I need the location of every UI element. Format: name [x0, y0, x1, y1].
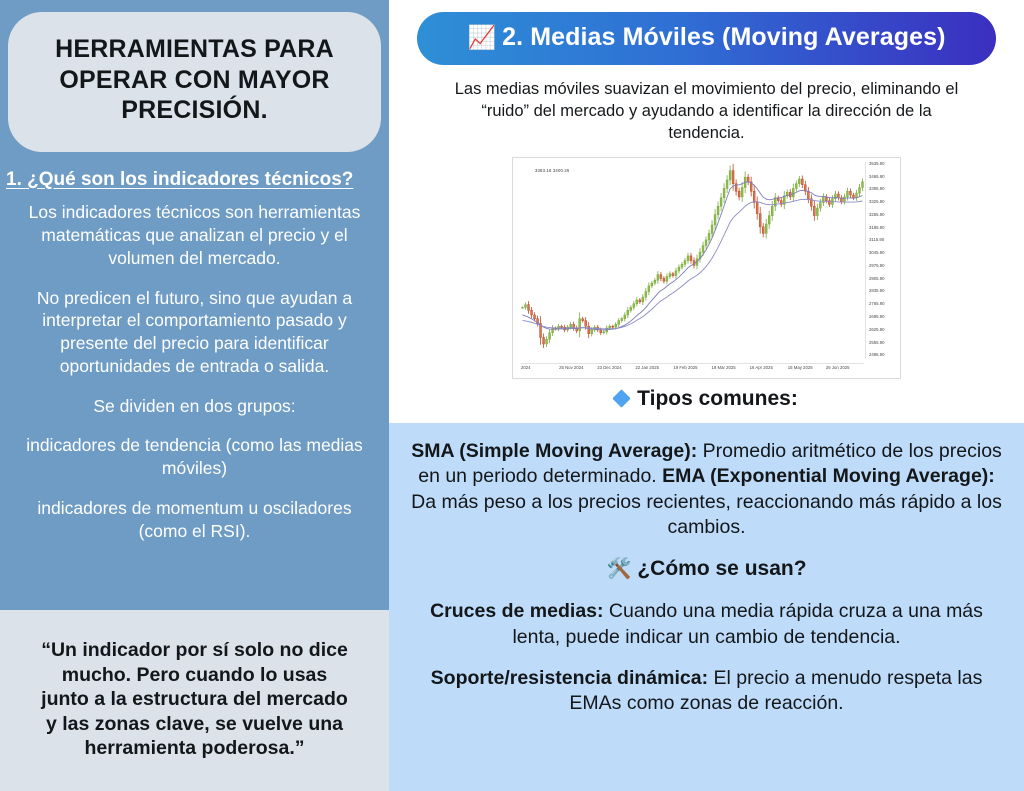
sma-ema-block: SMA (Simple Moving Average): Promedio ar…: [411, 439, 1002, 540]
paragraph-1: Los indicadores técnicos son herramienta…: [22, 201, 367, 269]
paragraph-3: Se dividen en dos grupos:: [22, 395, 367, 418]
x-tick-label: 16 Apr 2025: [750, 366, 788, 370]
infographic-page: HERRAMIENTAS PARA OPERAR CON MAYOR PRECI…: [0, 0, 1024, 791]
y-tick-label: 2695.90: [869, 315, 885, 319]
x-tick-label: 15 May 2025: [788, 366, 826, 370]
y-tick-label: 3465.90: [869, 175, 885, 179]
x-tick-label: 2024: [521, 366, 559, 370]
y-tick-label: 3115.90: [869, 238, 884, 242]
cruces-de-medias-block: Cruces de medias: Cuando una media rápid…: [411, 599, 1002, 650]
tipos-comunes-heading: Tipos comunes:: [403, 387, 1010, 423]
section-intro-text: Las medias móviles suavizan el movimient…: [447, 79, 966, 145]
section-heading-question: 1. ¿Qué son los indicadores técnicos?: [6, 169, 383, 192]
quote-text: “Un indicador por sí solo no dice mucho.…: [40, 638, 349, 761]
soporte-resistencia-block: Soporte/resistencia dinámica: El precio …: [411, 666, 1002, 717]
y-tick-label: 3325.90: [869, 200, 885, 204]
y-tick-label: 2485.90: [869, 353, 885, 357]
section-header-title: 2. Medias Móviles (Moving Averages): [502, 23, 945, 52]
hammer-and-wrench-icon: 🛠️: [606, 556, 631, 581]
y-tick-label: 2975.90: [869, 264, 885, 268]
y-tick-label: 3395.90: [869, 187, 885, 191]
y-tick-label: 2765.90: [869, 302, 885, 306]
left-top-section: HERRAMIENTAS PARA OPERAR CON MAYOR PRECI…: [0, 0, 389, 191]
x-tick-label: 25 Nov 2024: [559, 366, 597, 370]
paragraph-4: indicadores de tendencia (como las media…: [22, 434, 367, 480]
left-column: HERRAMIENTAS PARA OPERAR CON MAYOR PRECI…: [0, 0, 389, 791]
ma-line: [523, 199, 863, 329]
details-panel: SMA (Simple Moving Average): Promedio ar…: [389, 423, 1024, 791]
y-tick-label: 2905.90: [869, 277, 885, 281]
x-tick-label: 23 Dec 2024: [597, 366, 635, 370]
y-tick-label: 3255.90: [869, 213, 885, 217]
quote-box: “Un indicador por sí solo no dice mucho.…: [0, 610, 389, 791]
section-header-pill: 📈 2. Medias Móviles (Moving Averages): [417, 12, 996, 65]
price-chart: 3383.18 3400.26 3535.903465.903395.90332…: [512, 157, 901, 379]
main-title-pill: HERRAMIENTAS PARA OPERAR CON MAYOR PRECI…: [8, 12, 381, 152]
x-tick-label: 26 Jun 2025: [826, 366, 864, 370]
chart-y-axis: 3535.903465.903395.903325.903255.903185.…: [865, 162, 899, 358]
chart-increasing-icon: 📈: [467, 26, 496, 49]
howto-label: ¿Cómo se usan?: [637, 557, 806, 581]
chart-plot-area: [521, 162, 864, 359]
y-tick-label: 3185.90: [869, 226, 885, 230]
x-tick-label: 22 Jan 2025: [635, 366, 673, 370]
chart-inner: 3383.18 3400.26 3535.903465.903395.90332…: [513, 158, 900, 378]
paragraph-5: indicadores de momentum u osciladores (c…: [22, 497, 367, 543]
left-body-text: Los indicadores técnicos son herramienta…: [0, 191, 389, 610]
tipos-comunes-label: Tipos comunes:: [637, 387, 798, 411]
cruces-label: Cruces de medias:: [430, 600, 603, 622]
sma-label: SMA (Simple Moving Average):: [411, 440, 697, 462]
ema-label: EMA (Exponential Moving Average):: [662, 465, 995, 487]
y-tick-label: 3045.90: [869, 251, 885, 255]
y-tick-label: 2835.90: [869, 289, 885, 293]
right-top-section: 📈 2. Medias Móviles (Moving Averages) La…: [389, 0, 1024, 423]
page-title: HERRAMIENTAS PARA OPERAR CON MAYOR PRECI…: [34, 34, 355, 126]
paragraph-2: No predicen el futuro, sino que ayudan a…: [22, 287, 367, 378]
howto-heading: 🛠️ ¿Cómo se usan?: [411, 556, 1002, 581]
y-tick-label: 3535.90: [869, 162, 885, 166]
y-tick-label: 2555.90: [869, 341, 885, 345]
x-tick-label: 19 Feb 2025: [673, 366, 711, 370]
diamond-bullet-icon: [612, 390, 630, 408]
x-tick-label: 19 Mar 2025: [712, 366, 750, 370]
soporte-label: Soporte/resistencia dinámica:: [431, 667, 708, 689]
y-tick-label: 2625.90: [869, 328, 885, 332]
right-column: 📈 2. Medias Móviles (Moving Averages) La…: [389, 0, 1024, 791]
chart-x-axis: 202425 Nov 202423 Dec 202422 Jan 202519 …: [521, 363, 864, 375]
ema-description: Da más peso a los precios recientes, rea…: [411, 491, 1002, 538]
